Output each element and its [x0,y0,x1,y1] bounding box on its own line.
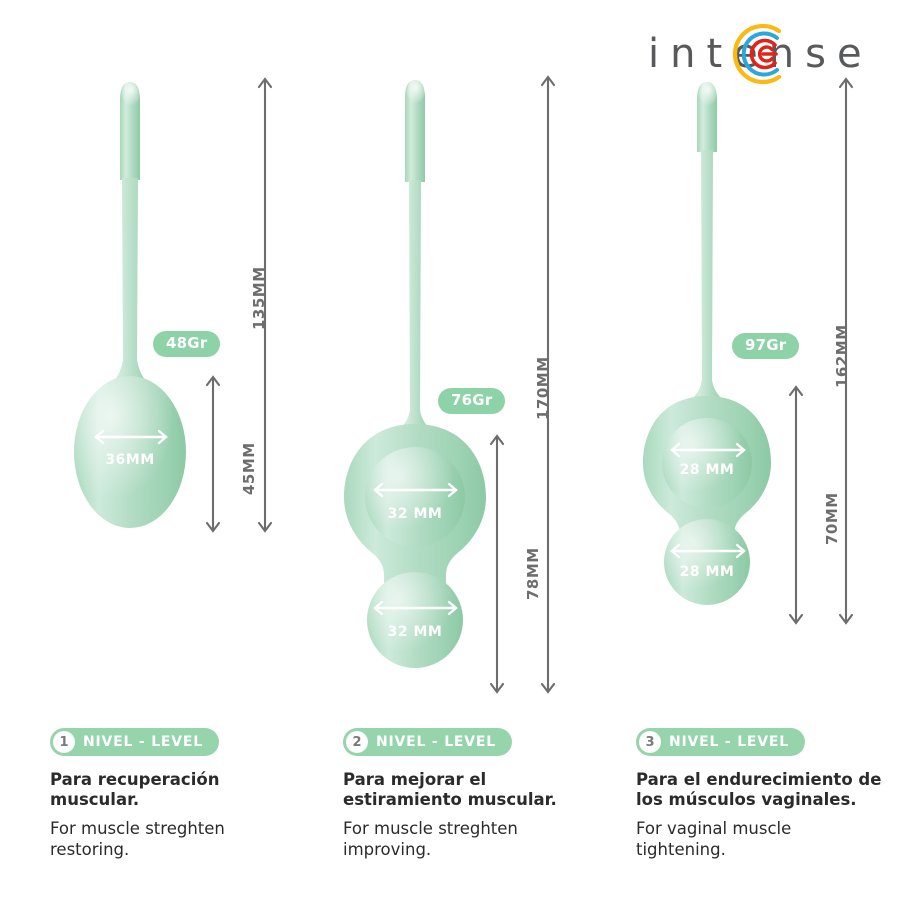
level-number-2: 2 [346,731,368,753]
weight-badge-2: 76Gr [438,388,505,414]
dimension-label-body-3: 70MM [823,492,841,545]
caption-title-es-1: Para recuperaciónmuscular. [50,770,320,810]
caption-block-2: 2 NIVEL - LEVEL Para mejorar elestiramie… [343,728,613,861]
level-badge-1: 1 NIVEL - LEVEL [50,728,219,756]
weight-badge-1: 48Gr [153,331,220,357]
dimension-arrow-body-1 [207,377,219,531]
dimension-label-body-2: 78MM [524,547,542,600]
caption-block-1: 1 NIVEL - LEVEL Para recuperaciónmuscula… [50,728,320,861]
width-label-2-2: 32 MM [388,620,443,640]
width-label-2-1: 32 MM [388,502,443,522]
product-column-2: 76Gr 32 MM 32 MM 78MM 170MM [290,0,590,720]
dimension-label-body-1: 45MM [240,442,258,495]
width-label-3-1: 28 MM [680,458,735,478]
width-label-3-2: 28 MM [680,560,735,580]
width-label-1-1: 36MM [105,448,154,468]
infographic-canvas: intense [0,0,900,900]
product-1-illustration [0,0,300,720]
product-column-1: 48Gr 36MM 45MM 135MM [0,0,300,720]
level-badge-3: 3 NIVEL - LEVEL [636,728,805,756]
dimension-label-total-3: 162MM [833,324,851,388]
caption-title-en-1: For muscle streghtenrestoring. [50,819,320,860]
dimension-arrow-body-2 [491,436,503,692]
caption-title-es-3: Para el endurecimiento delos músculos va… [636,770,900,810]
caption-block-3: 3 NIVEL - LEVEL Para el endurecimiento d… [636,728,900,861]
dimension-label-total-2: 170MM [534,356,552,420]
dimension-arrow-body-3 [790,387,802,623]
level-label-3: NIVEL - LEVEL [669,734,789,750]
caption-title-en-3: For vaginal muscletightening. [636,819,900,860]
level-number-1: 1 [53,731,75,753]
level-badge-2: 2 NIVEL - LEVEL [343,728,512,756]
level-number-3: 3 [639,731,661,753]
level-label-2: NIVEL - LEVEL [376,734,496,750]
level-label-1: NIVEL - LEVEL [83,734,203,750]
product-column-3: 97Gr 28 MM 28 MM 70MM 162MM [580,0,880,720]
dimension-label-total-1: 135MM [250,266,268,330]
caption-title-en-2: For muscle streghtenimproving. [343,819,613,860]
caption-title-es-2: Para mejorar elestiramiento muscular. [343,770,613,810]
weight-badge-3: 97Gr [732,333,799,359]
